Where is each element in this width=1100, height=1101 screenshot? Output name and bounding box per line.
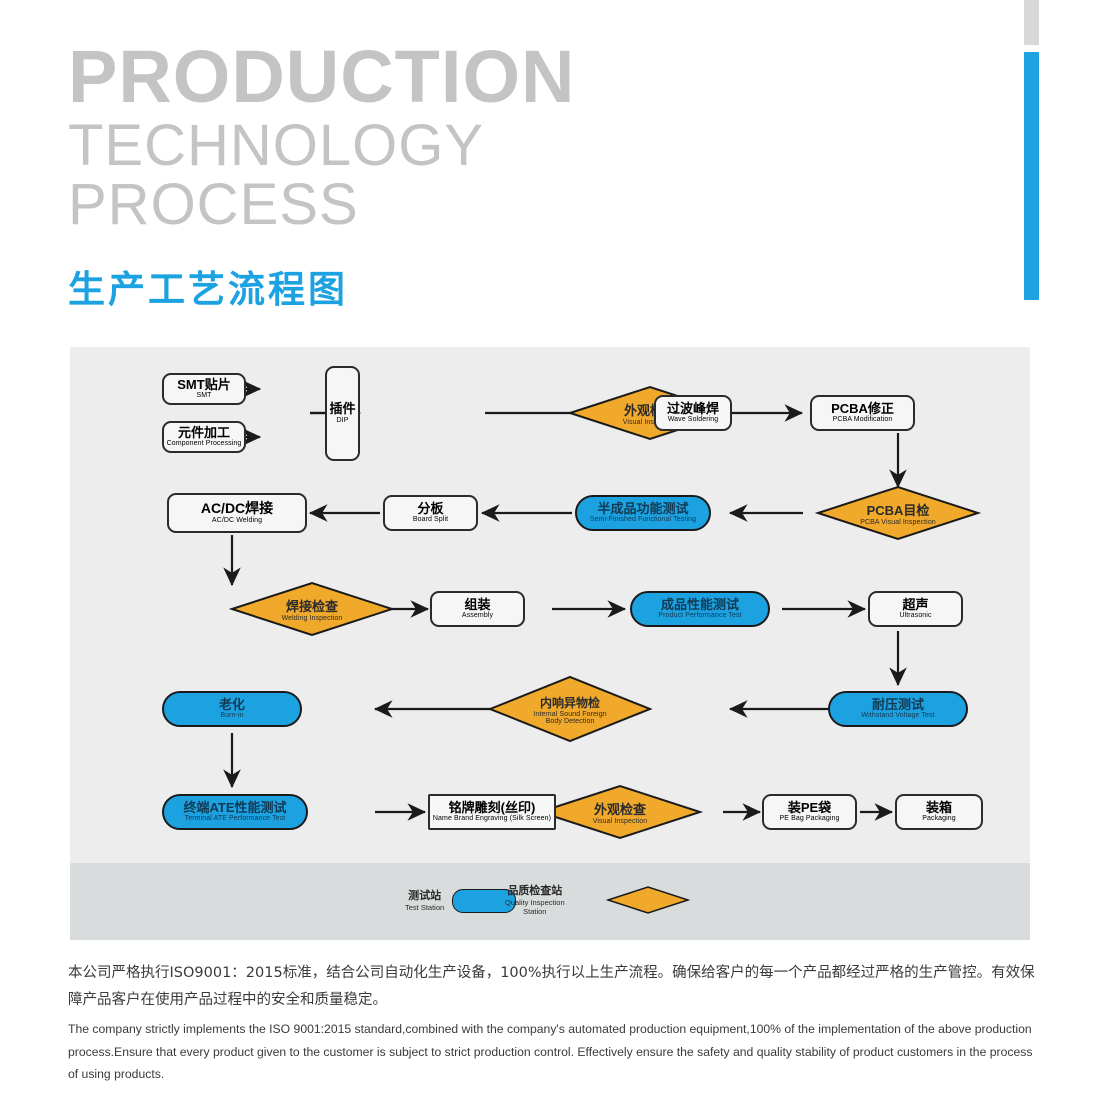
node-product-performance-test[interactable]: 成品性能测试 Product Performance Test bbox=[630, 591, 770, 627]
node-burn-in[interactable]: 老化 Burn-in bbox=[162, 691, 302, 727]
node-pcba-visual-inspection[interactable]: PCBA目检 PCBA Visual Inspection bbox=[818, 487, 978, 539]
footer-paragraph-english: The company strictly implements the ISO … bbox=[68, 1018, 1036, 1086]
title-line-technology: TECHNOLOGY bbox=[68, 116, 575, 175]
title-line-process: PROCESS bbox=[68, 175, 575, 234]
flowchart: SMT贴片 SMT 元件加工 Component Processing 插件 D… bbox=[70, 347, 1030, 940]
subtitle-chinese: 生产工艺流程图 bbox=[68, 259, 575, 313]
node-pcba-modification[interactable]: PCBA修正 PCBA Modification bbox=[810, 395, 915, 431]
legend-label-quality-inspection-station: 品质检查站 Quality Inspection Station bbox=[505, 885, 565, 916]
accent-bar-blue bbox=[1024, 52, 1039, 300]
page-header: PRODUCTION TECHNOLOGY PROCESS 生产工艺流程图 bbox=[68, 42, 575, 313]
node-pe-bag-packaging[interactable]: 装PE袋 PE Bag Packaging bbox=[762, 794, 857, 830]
legend-item-test-station: 测试站 Test Station bbox=[405, 889, 516, 913]
node-visual-inspection-2[interactable]: 外观检查 Visual Inspection bbox=[540, 786, 700, 838]
legend: 测试站 Test Station 品质检查站 Quality Inspectio… bbox=[70, 863, 1030, 940]
title-line-production: PRODUCTION bbox=[68, 42, 575, 112]
node-ultrasonic[interactable]: 超声 Ultrasonic bbox=[868, 591, 963, 627]
footer-paragraph-chinese: 本公司严格执行ISO9001：2015标准，结合公司自动化生产设备，100%执行… bbox=[68, 960, 1036, 1014]
node-dip[interactable]: 插件 DIP bbox=[325, 366, 360, 461]
node-assembly[interactable]: 组装 Assembly bbox=[430, 591, 525, 627]
node-semi-finished-functional-testing[interactable]: 半成品功能测试 Semi-Finished Functional Testing bbox=[575, 495, 711, 531]
node-packaging[interactable]: 装箱 Packaging bbox=[895, 794, 983, 830]
node-acdc-welding[interactable]: AC/DC焊接 AC/DC Welding bbox=[167, 493, 307, 533]
node-smt[interactable]: SMT贴片 SMT bbox=[162, 373, 246, 405]
node-board-split[interactable]: 分板 Board Split bbox=[383, 495, 478, 531]
node-internal-sound-foreign-body-detection[interactable]: 内响异物检 Internal Sound Foreign Body Detect… bbox=[490, 677, 650, 741]
legend-label-test-station: 测试站 Test Station bbox=[405, 890, 444, 912]
node-wave-soldering[interactable]: 过波峰焊 Wave Soldering bbox=[654, 395, 732, 431]
node-name-brand-engraving[interactable]: 铭牌雕刻(丝印) Name Brand Engraving (Silk Scre… bbox=[428, 794, 556, 830]
legend-item-quality-inspection-station: 品质检查站 Quality Inspection Station bbox=[505, 885, 573, 916]
node-welding-inspection[interactable]: 焊接检查 Welding Inspection bbox=[232, 583, 392, 635]
node-terminal-ate-performance-test[interactable]: 终端ATE性能测试 Terminal ATE Performance Test bbox=[162, 794, 308, 830]
accent-bar-gray bbox=[1024, 0, 1039, 45]
node-withstand-voltage-test[interactable]: 耐压测试 Withstand Voltage Test bbox=[828, 691, 968, 727]
node-component-processing[interactable]: 元件加工 Component Processing bbox=[162, 421, 246, 453]
